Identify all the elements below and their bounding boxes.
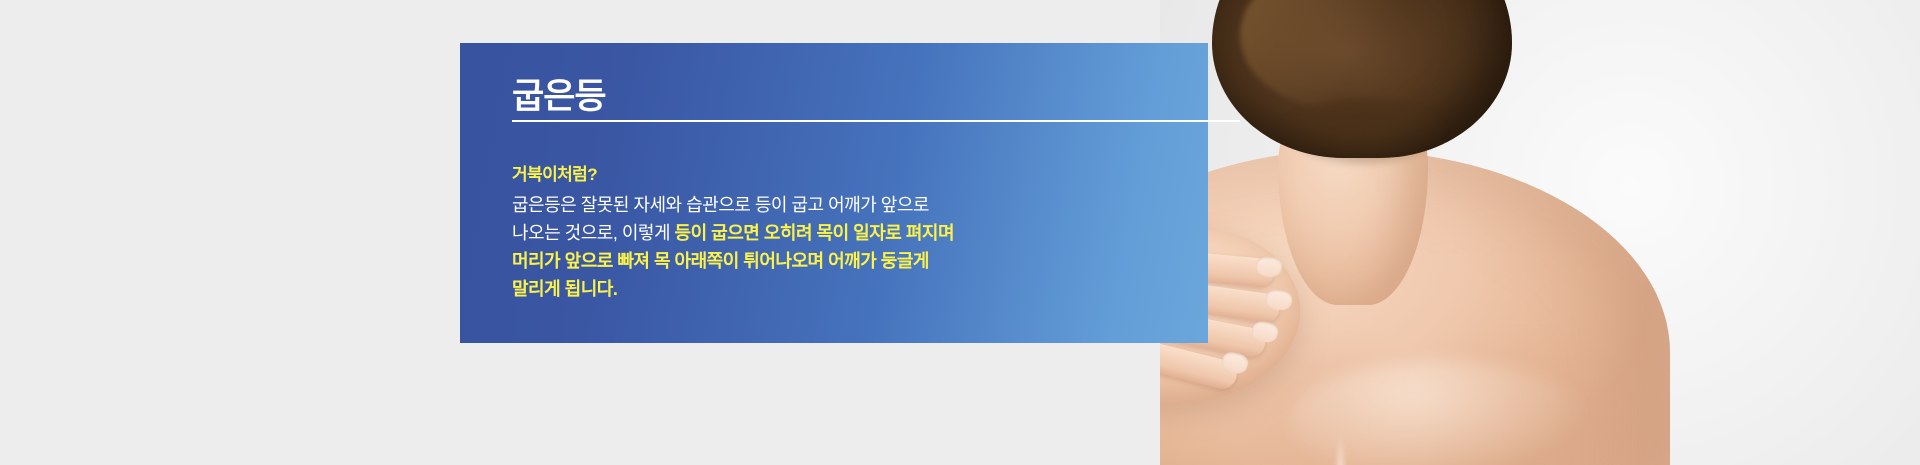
info-card-content: 굽은등 거북이처럼? 굽은등은 잘못된 자세와 습관으로 등이 굽고 어깨가 앞…	[460, 43, 1208, 304]
info-card: 굽은등 거북이처럼? 굽은등은 잘못된 자세와 습관으로 등이 굽고 어깨가 앞…	[460, 43, 1208, 343]
title-divider	[512, 120, 1240, 122]
description-line-2-plain: 나오는 것으로, 이렇게	[512, 223, 675, 243]
subheading: 거북이처럼?	[512, 160, 1164, 185]
back-photo	[1160, 0, 1920, 465]
info-card-body: 거북이처럼? 굽은등은 잘못된 자세와 습관으로 등이 굽고 어깨가 앞으로 나…	[512, 160, 1164, 303]
hair-nape	[1278, 98, 1448, 168]
description-line-4: 말리게 됩니다.	[512, 275, 1152, 303]
description-line-3: 머리가 앞으로 빠져 목 아래쪽이 튀어나오며 어깨가 둥글게	[512, 247, 1152, 275]
description-line-2-highlight: 등이 굽으면 오히려 목이 일자로 펴지며	[675, 223, 954, 243]
description-line-1: 굽은등은 잘못된 자세와 습관으로 등이 굽고 어깨가 앞으로	[512, 191, 1152, 219]
banner-stage: 굽은등 거북이처럼? 굽은등은 잘못된 자세와 습관으로 등이 굽고 어깨가 앞…	[0, 0, 1920, 465]
description-line-4-highlight: 말리게 됩니다.	[512, 279, 617, 299]
page-title: 굽은등	[512, 77, 1164, 117]
description-line-3-highlight: 머리가 앞으로 빠져 목 아래쪽이 튀어나오며 어깨가 둥글게	[512, 251, 929, 271]
description-paragraph: 굽은등은 잘못된 자세와 습관으로 등이 굽고 어깨가 앞으로 나오는 것으로,…	[512, 191, 1152, 303]
description-line-2: 나오는 것으로, 이렇게 등이 굽으면 오히려 목이 일자로 펴지며	[512, 219, 1152, 247]
description-line-1-plain: 굽은등은 잘못된 자세와 습관으로 등이 굽고 어깨가 앞으로	[512, 195, 929, 215]
